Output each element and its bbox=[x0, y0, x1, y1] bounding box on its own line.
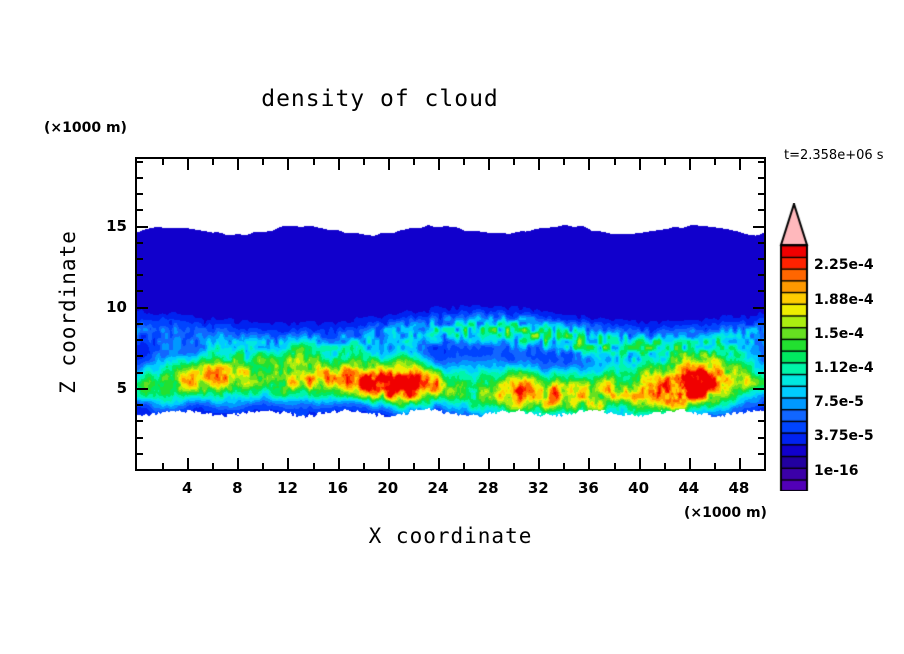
axis-tick bbox=[739, 159, 741, 170]
y-tick-label: 10 bbox=[89, 298, 127, 316]
axis-tick bbox=[137, 372, 143, 374]
axis-tick bbox=[388, 159, 390, 170]
axis-tick bbox=[137, 193, 143, 195]
page-title: density of cloud bbox=[0, 86, 760, 112]
colorbar-tick-label: 1.5e-4 bbox=[814, 326, 864, 342]
axis-tick bbox=[758, 193, 764, 195]
axis-tick bbox=[758, 323, 764, 325]
x-axis-title: X coordinate bbox=[135, 524, 766, 548]
axis-tick bbox=[758, 161, 764, 163]
y-tick-label: 15 bbox=[89, 217, 127, 235]
axis-tick bbox=[758, 437, 764, 439]
axis-tick bbox=[488, 159, 490, 170]
axis-tick bbox=[287, 159, 289, 170]
figure-canvas: density of cloud (×1000 m) t=2.358e+06 s… bbox=[0, 0, 904, 654]
axis-tick bbox=[413, 463, 415, 469]
axis-tick bbox=[338, 159, 340, 170]
axis-tick bbox=[689, 159, 691, 170]
axis-tick bbox=[513, 159, 515, 165]
x-tick-label: 16 bbox=[327, 479, 348, 497]
axis-tick bbox=[187, 159, 189, 170]
axis-tick bbox=[162, 159, 164, 165]
axis-tick bbox=[614, 463, 616, 469]
axis-tick bbox=[137, 437, 143, 439]
axis-tick bbox=[137, 258, 143, 260]
axis-tick bbox=[758, 355, 764, 357]
time-annotation: t=2.358e+06 s bbox=[784, 148, 884, 163]
axis-tick bbox=[639, 159, 641, 170]
colorbar-tick-label: 2.25e-4 bbox=[814, 257, 874, 273]
axis-tick bbox=[488, 458, 490, 469]
colorbar-tick-label: 3.75e-5 bbox=[814, 428, 874, 444]
x-tick-label: 28 bbox=[478, 479, 499, 497]
axis-tick bbox=[758, 242, 764, 244]
axis-tick bbox=[639, 458, 641, 469]
colorbar-tick-label: 1.88e-4 bbox=[814, 292, 874, 308]
axis-tick bbox=[313, 463, 315, 469]
plot-frame bbox=[135, 157, 766, 471]
x-tick-label: 32 bbox=[528, 479, 549, 497]
axis-tick bbox=[137, 323, 143, 325]
axis-tick bbox=[588, 159, 590, 170]
axis-tick bbox=[162, 463, 164, 469]
axis-tick bbox=[212, 159, 214, 165]
axis-tick bbox=[758, 453, 764, 455]
axis-tick bbox=[137, 339, 143, 341]
axis-tick bbox=[689, 458, 691, 469]
x-axis-unit-label: (×1000 m) bbox=[684, 505, 767, 521]
axis-tick bbox=[212, 463, 214, 469]
axis-tick bbox=[753, 307, 764, 309]
colorbar-tick-label: 7.5e-5 bbox=[814, 394, 864, 410]
axis-tick bbox=[714, 159, 716, 165]
axis-tick bbox=[739, 458, 741, 469]
axis-tick bbox=[758, 177, 764, 179]
colorbar: 2.25e-41.88e-41.5e-41.12e-47.5e-53.75e-5… bbox=[778, 203, 810, 491]
axis-tick bbox=[758, 372, 764, 374]
axis-tick bbox=[137, 274, 143, 276]
axis-tick bbox=[463, 159, 465, 165]
axis-tick bbox=[413, 159, 415, 165]
axis-tick bbox=[137, 404, 143, 406]
axis-tick bbox=[237, 159, 239, 170]
axis-tick bbox=[313, 159, 315, 165]
colorbar-tick-label: 1e-16 bbox=[814, 463, 859, 479]
axis-tick bbox=[137, 209, 143, 211]
axis-tick bbox=[262, 463, 264, 469]
colorbar-tick-label: 1.12e-4 bbox=[814, 360, 874, 376]
x-tick-label: 40 bbox=[628, 479, 649, 497]
axis-tick bbox=[758, 339, 764, 341]
axis-tick bbox=[614, 159, 616, 165]
axis-tick bbox=[262, 159, 264, 165]
x-tick-label: 36 bbox=[578, 479, 599, 497]
axis-tick bbox=[137, 177, 143, 179]
axis-tick bbox=[758, 404, 764, 406]
axis-tick bbox=[753, 226, 764, 228]
axis-tick bbox=[237, 458, 239, 469]
axis-tick bbox=[538, 458, 540, 469]
axis-tick bbox=[664, 463, 666, 469]
axis-tick bbox=[758, 258, 764, 260]
x-tick-label: 8 bbox=[232, 479, 242, 497]
axis-tick bbox=[714, 463, 716, 469]
axis-tick bbox=[758, 290, 764, 292]
x-tick-label: 48 bbox=[728, 479, 749, 497]
axis-tick bbox=[137, 355, 143, 357]
axis-tick bbox=[563, 463, 565, 469]
x-tick-label: 44 bbox=[678, 479, 699, 497]
axis-tick bbox=[438, 458, 440, 469]
y-tick-label: 5 bbox=[89, 379, 127, 397]
axis-tick bbox=[388, 458, 390, 469]
axis-tick bbox=[563, 159, 565, 165]
axis-tick bbox=[137, 242, 143, 244]
x-tick-label: 24 bbox=[428, 479, 449, 497]
axis-tick bbox=[137, 226, 148, 228]
axis-tick bbox=[758, 274, 764, 276]
x-tick-label: 4 bbox=[182, 479, 192, 497]
axis-tick bbox=[137, 307, 148, 309]
x-tick-label: 20 bbox=[377, 479, 398, 497]
axis-tick bbox=[287, 458, 289, 469]
axis-tick bbox=[463, 463, 465, 469]
axis-tick bbox=[338, 458, 340, 469]
axis-tick bbox=[363, 463, 365, 469]
axis-tick bbox=[137, 420, 143, 422]
axis-tick bbox=[758, 420, 764, 422]
contour-field bbox=[137, 159, 764, 469]
axis-tick bbox=[664, 159, 666, 165]
y-axis-title: Z coordinate bbox=[56, 212, 80, 412]
axis-tick bbox=[438, 159, 440, 170]
axis-tick bbox=[753, 388, 764, 390]
axis-tick bbox=[137, 161, 143, 163]
axis-tick bbox=[137, 388, 148, 390]
axis-tick bbox=[758, 209, 764, 211]
axis-tick bbox=[187, 458, 189, 469]
axis-tick bbox=[588, 458, 590, 469]
axis-tick bbox=[538, 159, 540, 170]
y-axis-unit-label: (×1000 m) bbox=[44, 120, 127, 136]
colorbar-gradient bbox=[778, 203, 810, 491]
x-tick-label: 12 bbox=[277, 479, 298, 497]
axis-tick bbox=[137, 290, 143, 292]
axis-tick bbox=[363, 159, 365, 165]
axis-tick bbox=[513, 463, 515, 469]
axis-tick bbox=[137, 453, 143, 455]
